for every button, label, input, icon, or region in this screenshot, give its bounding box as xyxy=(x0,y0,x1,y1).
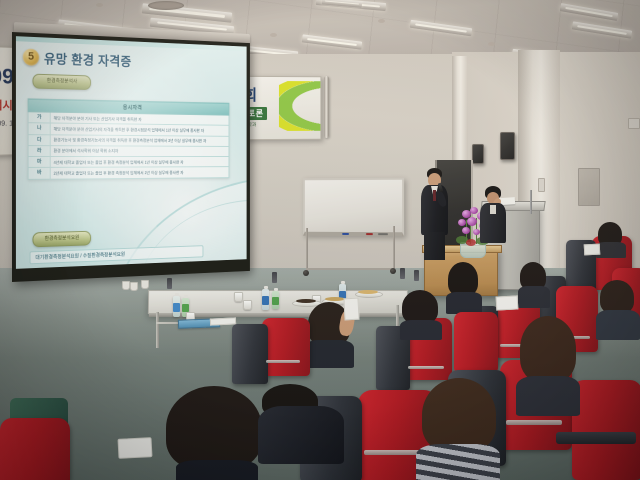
handout xyxy=(584,244,601,256)
whiteboard-crossbar xyxy=(306,268,394,270)
wall-junction-box xyxy=(628,118,640,129)
row-key: 바 xyxy=(28,168,50,179)
smoke-detector-5 xyxy=(488,42,495,46)
hair xyxy=(166,386,262,470)
slide-title-row: 5 유망 환경 자격증 xyxy=(23,47,132,70)
handout xyxy=(117,437,152,459)
floor-bottle xyxy=(167,278,172,289)
bottle-cap xyxy=(274,288,278,291)
paper-stack xyxy=(210,317,236,325)
slide-number-badge: 5 xyxy=(23,48,39,65)
seat[interactable] xyxy=(262,318,310,376)
torso xyxy=(176,460,258,480)
bottle-cap xyxy=(175,293,179,296)
water-bottle xyxy=(262,289,269,310)
bottle-cap xyxy=(341,281,345,284)
ceiling-vent xyxy=(148,1,184,10)
wall-light-tube xyxy=(324,76,329,138)
seat[interactable] xyxy=(0,418,70,480)
audience-member xyxy=(518,262,550,306)
orchid-petal xyxy=(458,219,466,226)
paper-cup xyxy=(243,300,252,310)
bottle-cap xyxy=(184,295,188,298)
bottle-label xyxy=(262,296,269,305)
whiteboard-leg-right xyxy=(393,226,395,270)
audience-member-front-left xyxy=(166,386,266,480)
seat-handle xyxy=(266,360,300,363)
audience-member xyxy=(446,262,482,310)
eraser-icon xyxy=(378,233,388,235)
presenter xyxy=(418,168,452,260)
dark-coat xyxy=(258,406,344,464)
slide-pill-bottom: 환경측정분석요원 xyxy=(32,231,91,248)
photo-scene: 09 업시 009. 11. 수회 전략토론 대 환경공학과 5 유망 환경 자… xyxy=(0,0,640,480)
audience-member xyxy=(596,280,640,338)
wall-speaker-icon-2 xyxy=(472,144,484,164)
table-leg-left xyxy=(156,312,159,348)
handout xyxy=(496,295,519,310)
smoke-detector-1 xyxy=(96,3,103,7)
torso xyxy=(518,286,550,308)
floor-cup xyxy=(130,282,138,291)
snack-item xyxy=(358,290,378,294)
assistant-shirt xyxy=(490,205,496,214)
torso xyxy=(596,242,626,258)
hair xyxy=(520,316,576,382)
row-text: 환경기능사 및 환경측정기능사의 자격을 취득한 후 환경측정분석 업체에서 3… xyxy=(50,134,229,146)
seat-handle xyxy=(408,366,444,369)
audience-member-dark-coat xyxy=(258,384,344,462)
floor-bottle xyxy=(400,268,405,279)
foliage xyxy=(466,239,476,246)
row-key: 가 xyxy=(28,112,50,123)
seat[interactable] xyxy=(232,324,268,384)
handout xyxy=(343,298,359,321)
slide-title: 유망 환경 자격증 xyxy=(44,48,132,70)
row-key: 마 xyxy=(28,157,50,168)
marker-red-icon xyxy=(366,233,373,235)
smoke-detector-3 xyxy=(378,19,385,23)
microphone-stand-icon xyxy=(530,190,532,214)
row-text: 4년제 대학교 졸업자 또는 졸업 후 환경 측정분석 업체에서 1년 이상 실… xyxy=(50,157,229,168)
hair xyxy=(402,290,438,324)
whiteboard xyxy=(303,178,404,237)
whiteboard-caster-right xyxy=(390,268,396,274)
projection-screen: 5 유망 환경 자격증 환경측정분석사 응시자격 가해당 자격분야 분야 기사 … xyxy=(12,22,250,292)
floor-cup xyxy=(141,280,149,289)
table-row: 바2년제 대학교 졸업자 또는 졸업 후 환경 측정분석 업체에서 2년 이상 … xyxy=(28,167,229,179)
screen-border: 5 유망 환경 자격증 환경측정분석사 응시자격 가해당 자격분야 분야 기사 … xyxy=(12,32,250,282)
marker-blue-icon xyxy=(342,233,349,235)
wall-speaker-icon xyxy=(500,132,515,160)
audience-member-striped xyxy=(416,378,500,480)
orchid-petal xyxy=(462,227,470,234)
water-bottle xyxy=(272,291,279,309)
bottle-label xyxy=(272,297,279,305)
seat[interactable] xyxy=(454,312,498,372)
striped-shirt xyxy=(416,444,500,480)
row-text: 환경 분야에서 석사학위 이상 학위 소지자 xyxy=(50,145,229,156)
floor-bottle xyxy=(414,270,419,281)
audience-member xyxy=(400,290,442,336)
bottle-label xyxy=(173,303,180,312)
torso xyxy=(400,320,442,340)
audience-member xyxy=(596,222,626,254)
banner-left-red-text: 업시 xyxy=(0,97,13,114)
whiteboard-leg-left xyxy=(306,228,308,272)
hair xyxy=(600,280,634,314)
row-key: 나 xyxy=(28,123,50,134)
torso xyxy=(516,376,580,416)
torso xyxy=(596,310,640,340)
orchid-petal xyxy=(467,217,477,226)
audience-member-front-right xyxy=(516,316,580,412)
paper-cup xyxy=(234,292,243,302)
row-text: 2년제 대학교 졸업자 또는 졸업 후 환경 측정분석 업체에서 2년 이상 실… xyxy=(50,167,229,179)
floor-bottle xyxy=(272,272,277,283)
hair xyxy=(422,378,496,452)
slide-table-body: 가해당 자격분야 분야 기사 또는 산업기사 자격을 취득한 자 나해당 자격분… xyxy=(28,112,229,179)
table-row: 라환경 분야에서 석사학위 이상 학위 소지자 xyxy=(28,145,229,156)
slide-pill-top: 환경측정분석사 xyxy=(32,74,91,90)
seat-handle xyxy=(506,420,562,425)
seat[interactable] xyxy=(572,380,640,480)
row-key: 다 xyxy=(28,134,50,145)
seat-handle xyxy=(364,450,424,455)
row-key: 라 xyxy=(28,145,50,156)
seat-armrest xyxy=(556,432,636,444)
smoke-detector-2 xyxy=(270,33,277,37)
floor-cup xyxy=(122,281,130,290)
green-swoosh-icon xyxy=(279,81,321,131)
whiteboard-caster-left xyxy=(303,270,309,276)
table-row: 다환경기능사 및 환경측정기능사의 자격을 취득한 후 환경측정분석 업체에서 … xyxy=(28,134,229,146)
podium-assistant xyxy=(479,186,509,256)
wall-notice-panel xyxy=(578,168,600,206)
bottle-cap xyxy=(264,286,268,289)
water-bottle xyxy=(173,296,180,317)
slide-qualification-table: 응시자격 가해당 자격분야 분야 기사 또는 산업기사 자격을 취득한 자 나해… xyxy=(28,98,230,179)
presenter-legs xyxy=(424,232,445,260)
wall-switch-plate xyxy=(538,178,545,192)
torso xyxy=(304,340,354,368)
torso xyxy=(446,292,482,314)
presentation-slide: 5 유망 환경 자격증 환경측정분석사 응시자격 가해당 자격분야 분야 기사 … xyxy=(16,36,247,269)
hair xyxy=(448,262,478,296)
